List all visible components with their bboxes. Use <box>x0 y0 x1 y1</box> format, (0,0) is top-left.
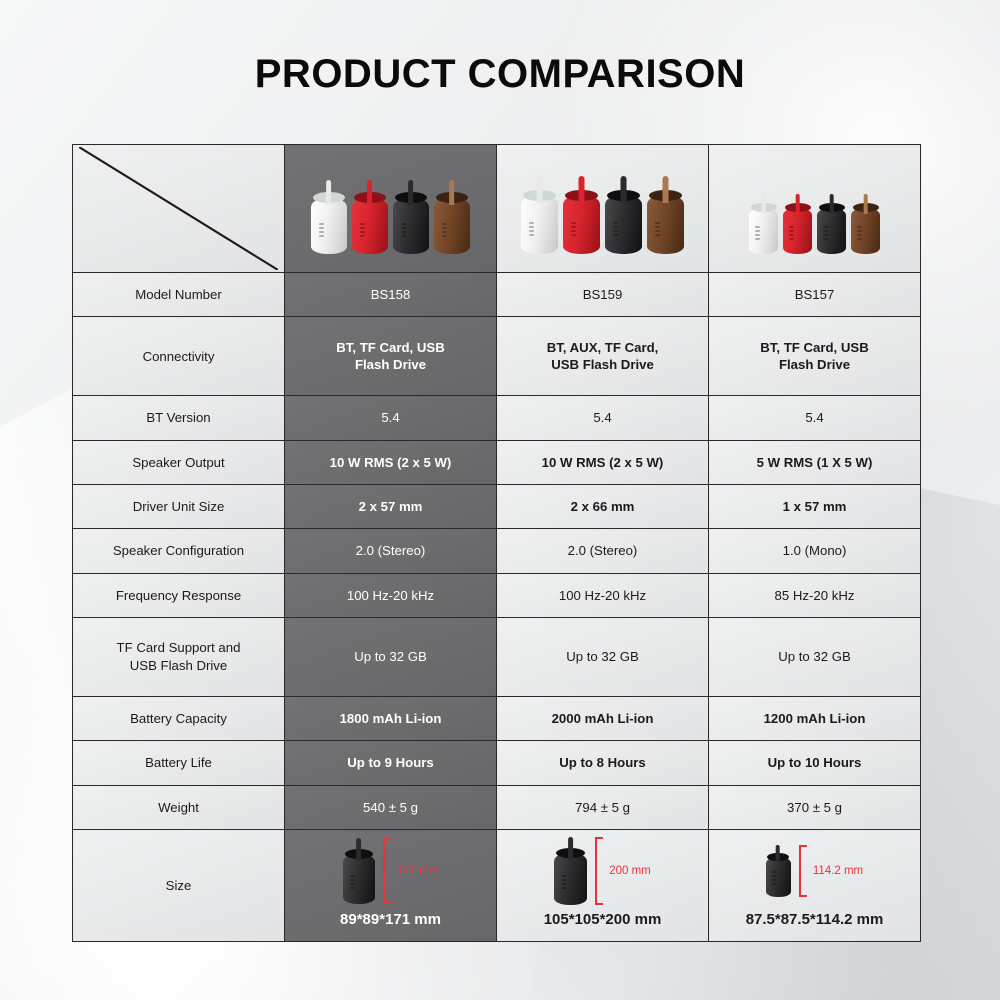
dimension-label: 114.2 mm <box>813 864 863 879</box>
diagonal-slash-icon <box>79 147 278 270</box>
cell-bs157-0: BS157 <box>709 273 921 317</box>
cell-bs157-9: Up to 10 Hours <box>709 741 921 785</box>
product-comparison-table: Model NumberBS158BS159BS157ConnectivityB… <box>72 144 921 942</box>
dimension-bracket-group: 171 mm <box>383 838 439 904</box>
cell-bs157-3: 5 W RMS (1 X 5 W) <box>709 440 921 484</box>
table-body: Model NumberBS158BS159BS157ConnectivityB… <box>73 145 921 942</box>
table-row: Model NumberBS158BS159BS157 <box>73 273 921 317</box>
page-title: PRODUCT COMPARISON <box>0 52 1000 97</box>
size-cell-inner: 171 mm89*89*171 mm <box>291 832 490 939</box>
speaker-strap <box>795 194 799 214</box>
table-row: Battery LifeUp to 9 HoursUp to 8 HoursUp… <box>73 741 921 785</box>
speaker-control-buttons <box>571 222 576 236</box>
table-row: ConnectivityBT, TF Card, USBFlash DriveB… <box>73 317 921 396</box>
speaker-strap <box>776 845 780 862</box>
size-cell-inner: 114.2 mm87.5*87.5*114.2 mm <box>715 832 914 939</box>
speaker-body <box>783 208 812 254</box>
table-header-row <box>73 145 921 273</box>
speaker-body <box>521 195 558 254</box>
row-label-7: TF Card Support andUSB Flash Drive <box>73 617 285 696</box>
table-row: TF Card Support andUSB Flash DriveUp to … <box>73 617 921 696</box>
speaker-red <box>783 194 812 254</box>
speaker-black <box>554 837 587 905</box>
speaker-strap <box>356 838 361 861</box>
speaker-control-buttons <box>789 226 794 240</box>
size-cell-bs158: 171 mm89*89*171 mm <box>285 830 497 942</box>
cell-bs158-0: BS158 <box>285 273 497 317</box>
cell-bs159-8: 2000 mAh Li-ion <box>497 696 709 740</box>
row-label-1: Connectivity <box>73 317 285 396</box>
cell-bs159-0: BS159 <box>497 273 709 317</box>
speaker-black <box>343 838 375 904</box>
speaker-control-buttons <box>401 223 406 237</box>
table-row: Battery Capacity1800 mAh Li-ion2000 mAh … <box>73 696 921 740</box>
table-row: Speaker Configuration2.0 (Stereo)2.0 (St… <box>73 529 921 573</box>
speaker-body <box>554 853 587 905</box>
cell-bs158-4: 2 x 57 mm <box>285 484 497 528</box>
cell-bs159-5: 2.0 (Stereo) <box>497 529 709 573</box>
speaker-strap <box>620 176 626 203</box>
speaker-white <box>521 176 558 254</box>
speaker-control-buttons <box>771 871 776 885</box>
table-row: Frequency Response100 Hz-20 kHz100 Hz-20… <box>73 573 921 617</box>
speaker-body <box>647 195 684 254</box>
speaker-control-buttons <box>442 223 447 237</box>
row-label-9: Battery Life <box>73 741 285 785</box>
speaker-control-buttons <box>823 226 828 240</box>
speaker-group-bs157 <box>715 147 914 270</box>
speaker-brown <box>647 176 684 254</box>
cell-bs157-10: 370 ± 5 g <box>709 785 921 829</box>
row-label-4: Driver Unit Size <box>73 484 285 528</box>
speaker-control-buttons <box>613 222 618 236</box>
speaker-strap <box>829 194 833 214</box>
speaker-body <box>766 857 791 897</box>
speaker-body <box>434 198 470 254</box>
cell-bs159-1: BT, AUX, TF Card,USB Flash Drive <box>497 317 709 396</box>
size-cell-bs159: 200 mm105*105*200 mm <box>497 830 709 942</box>
speaker-body <box>851 208 880 254</box>
row-label-5: Speaker Configuration <box>73 529 285 573</box>
measurement-bracket-icon <box>383 838 391 904</box>
speaker-strap <box>662 176 668 203</box>
cell-bs157-5: 1.0 (Mono) <box>709 529 921 573</box>
speaker-red <box>563 176 600 254</box>
measurement-bracket-icon <box>799 845 807 897</box>
speaker-brown <box>851 194 880 254</box>
cell-bs158-3: 10 W RMS (2 x 5 W) <box>285 440 497 484</box>
row-label-10: Weight <box>73 785 285 829</box>
speaker-control-buttons <box>561 875 566 889</box>
speaker-control-buttons <box>529 222 534 236</box>
speaker-body <box>605 195 642 254</box>
cell-bs158-8: 1800 mAh Li-ion <box>285 696 497 740</box>
speaker-black <box>817 194 846 254</box>
size-caption: 105*105*200 mm <box>544 910 662 930</box>
cell-bs158-10: 540 ± 5 g <box>285 785 497 829</box>
product-photo-cell-bs158 <box>285 145 497 273</box>
size-diagram: 171 mm <box>291 832 490 910</box>
cell-bs158-1: BT, TF Card, USBFlash Drive <box>285 317 497 396</box>
cell-bs158-7: Up to 32 GB <box>285 617 497 696</box>
speaker-strap <box>367 180 372 205</box>
row-label-size: Size <box>73 830 285 942</box>
cell-bs159-4: 2 x 66 mm <box>497 484 709 528</box>
cell-bs159-10: 794 ± 5 g <box>497 785 709 829</box>
speaker-control-buttons <box>319 223 324 237</box>
speaker-strap <box>449 180 454 205</box>
speaker-group-bs159 <box>503 147 702 270</box>
speaker-black <box>393 180 429 254</box>
comparison-table-container: Model NumberBS158BS159BS157ConnectivityB… <box>72 144 920 942</box>
speaker-black <box>605 176 642 254</box>
speaker-control-buttons <box>360 223 365 237</box>
speaker-black <box>766 845 791 897</box>
size-cell-inner: 200 mm105*105*200 mm <box>503 832 702 939</box>
product-photo-cell-bs157 <box>709 145 921 273</box>
cell-bs157-7: Up to 32 GB <box>709 617 921 696</box>
speaker-control-buttons <box>350 875 355 889</box>
table-row: BT Version5.45.45.4 <box>73 396 921 440</box>
speaker-body <box>352 198 388 254</box>
cell-bs159-2: 5.4 <box>497 396 709 440</box>
size-cell-bs157: 114.2 mm87.5*87.5*114.2 mm <box>709 830 921 942</box>
table-row: Driver Unit Size2 x 57 mm2 x 66 mm1 x 57… <box>73 484 921 528</box>
cell-bs159-6: 100 Hz-20 kHz <box>497 573 709 617</box>
cell-bs158-9: Up to 9 Hours <box>285 741 497 785</box>
speaker-body <box>817 208 846 254</box>
cell-bs159-9: Up to 8 Hours <box>497 741 709 785</box>
cell-bs158-5: 2.0 (Stereo) <box>285 529 497 573</box>
speaker-white <box>311 180 347 254</box>
speaker-white <box>749 194 778 254</box>
cell-bs159-3: 10 W RMS (2 x 5 W) <box>497 440 709 484</box>
speaker-group-bs158 <box>291 147 490 270</box>
speaker-strap <box>536 176 542 203</box>
table-row: Speaker Output10 W RMS (2 x 5 W)10 W RMS… <box>73 440 921 484</box>
speaker-control-buttons <box>755 226 760 240</box>
dimension-label: 171 mm <box>397 864 439 879</box>
row-label-2: BT Version <box>73 396 285 440</box>
size-diagram: 200 mm <box>503 832 702 910</box>
dimension-label: 200 mm <box>609 864 651 879</box>
speaker-body <box>563 195 600 254</box>
speaker-strap <box>761 194 765 214</box>
speaker-control-buttons <box>857 226 862 240</box>
speaker-strap <box>863 194 867 214</box>
cell-bs157-6: 85 Hz-20 kHz <box>709 573 921 617</box>
speaker-body <box>749 208 778 254</box>
table-row-size: Size171 mm89*89*171 mm200 mm105*105*200 … <box>73 830 921 942</box>
speaker-body <box>343 854 375 904</box>
cell-bs157-8: 1200 mAh Li-ion <box>709 696 921 740</box>
cell-bs157-1: BT, TF Card, USBFlash Drive <box>709 317 921 396</box>
row-label-6: Frequency Response <box>73 573 285 617</box>
cell-bs159-7: Up to 32 GB <box>497 617 709 696</box>
cell-bs158-2: 5.4 <box>285 396 497 440</box>
speaker-strap <box>568 837 573 860</box>
speaker-body <box>393 198 429 254</box>
speaker-red <box>352 180 388 254</box>
speaker-strap <box>578 176 584 203</box>
table-row: Weight540 ± 5 g794 ± 5 g370 ± 5 g <box>73 785 921 829</box>
cell-bs158-6: 100 Hz-20 kHz <box>285 573 497 617</box>
speaker-body <box>311 198 347 254</box>
dimension-bracket-group: 200 mm <box>595 837 651 905</box>
speaker-strap <box>326 180 331 205</box>
size-caption: 89*89*171 mm <box>340 910 441 930</box>
row-label-0: Model Number <box>73 273 285 317</box>
product-photo-cell-bs159 <box>497 145 709 273</box>
corner-cell <box>73 145 285 273</box>
size-caption: 87.5*87.5*114.2 mm <box>746 910 884 930</box>
speaker-control-buttons <box>655 222 660 236</box>
dimension-bracket-group: 114.2 mm <box>799 845 863 897</box>
cell-bs157-2: 5.4 <box>709 396 921 440</box>
row-label-8: Battery Capacity <box>73 696 285 740</box>
speaker-strap <box>408 180 413 205</box>
cell-bs157-4: 1 x 57 mm <box>709 484 921 528</box>
size-diagram: 114.2 mm <box>715 832 914 910</box>
measurement-bracket-icon <box>595 837 603 905</box>
speaker-brown <box>434 180 470 254</box>
row-label-3: Speaker Output <box>73 440 285 484</box>
